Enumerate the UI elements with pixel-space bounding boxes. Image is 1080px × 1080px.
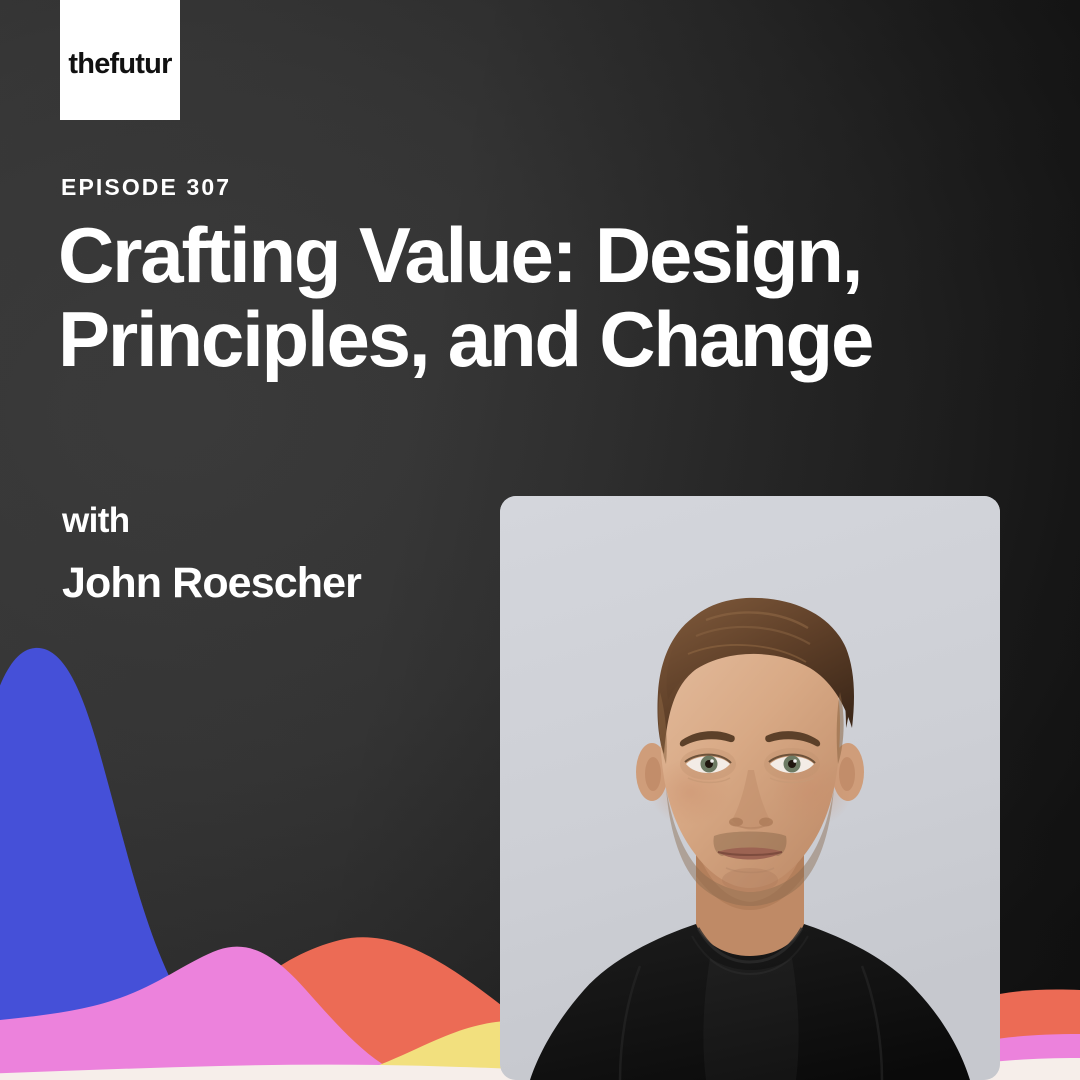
brand-logo[interactable]: thefutur — [60, 0, 180, 120]
guest-name: John Roescher — [62, 562, 361, 605]
episode-title: Crafting Value: Design, Principles, and … — [58, 213, 958, 381]
episode-title-line-2: Principles, and Change — [58, 297, 958, 381]
episode-label: EPISODE 307 — [61, 176, 231, 199]
episode-title-line-1: Crafting Value: Design, — [58, 213, 958, 297]
brand-logo-text: thefutur — [68, 50, 171, 79]
guest-portrait-image — [500, 496, 1000, 1080]
guest-portrait-card — [500, 496, 1000, 1080]
with-label: with — [62, 503, 130, 538]
wave-graphic-left — [0, 630, 560, 1080]
podcast-cover-art: thefutur EPISODE 307 Crafting Value: Des… — [0, 0, 1080, 1080]
